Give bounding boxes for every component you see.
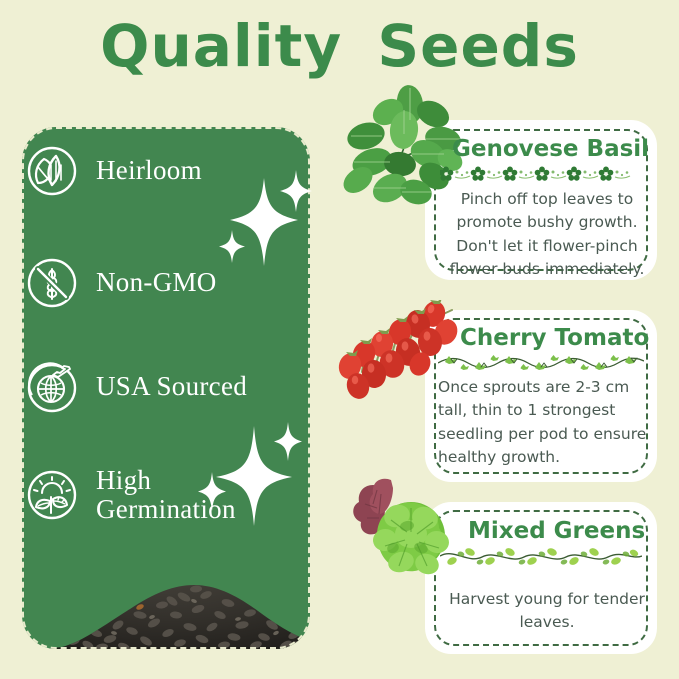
card-title: Genovese Basil [452,136,649,162]
feature-label: Non-GMO [96,268,217,297]
leafy-vine-divider [440,548,642,566]
feature-item-high-germination: High Germination [26,466,236,524]
feature-item-heirloom: Heirloom [26,145,202,197]
globe-airplane-icon [26,361,78,413]
card-body: Harvest young for tender leaves. [444,588,650,635]
vine-flower-divider [438,354,644,370]
sprout-sunrise-icon [26,469,78,521]
card-title: Mixed Greens [468,518,645,544]
card-title: Cherry Tomato [460,325,649,351]
no-wheat-icon [26,257,78,309]
feature-label: Heirloom [96,156,202,185]
page-title: Quality Seeds [0,12,679,80]
card-body: Pinch off top leaves to promote bushy gr… [444,188,650,281]
feature-label: High Germination [96,466,236,524]
poster-canvas: Quality Seeds [0,0,679,679]
seed-pile-image [44,529,310,649]
feature-item-usa-sourced: USA Sourced [26,361,247,413]
flower-divider [440,166,642,182]
feature-item-non-gmo: Non-GMO [26,257,217,309]
seed-leaf-icon [26,145,78,197]
feature-label: USA Sourced [96,372,247,401]
mixed-lettuce-image [345,474,467,586]
card-body: Once sprouts are 2-3 cm tall, thin to 1 … [438,376,650,469]
